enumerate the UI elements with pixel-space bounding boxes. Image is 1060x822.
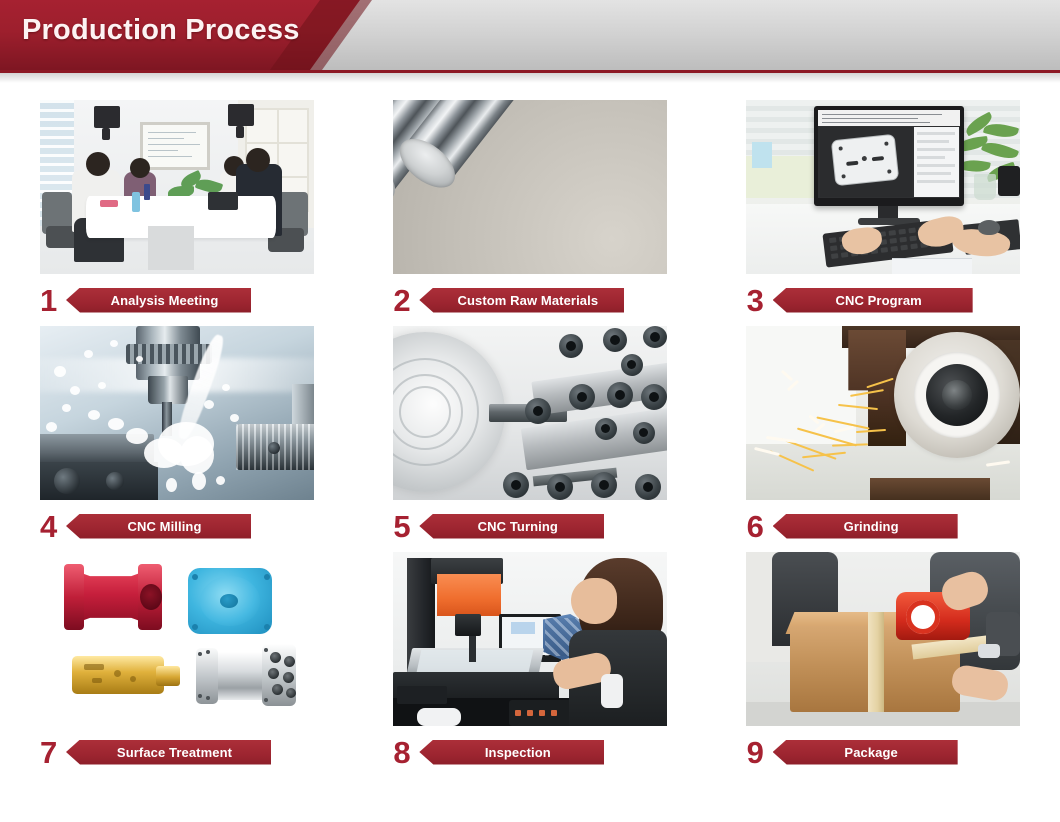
step-6-label-row: 6 Grinding <box>707 500 1060 552</box>
step-5-label[interactable]: CNC Turning <box>419 514 604 539</box>
process-step-3[interactable]: 3 CNC Program <box>707 100 1060 326</box>
step-9-number: 9 <box>747 737 773 768</box>
step-1-label-row: 1 Analysis Meeting <box>0 274 353 326</box>
process-row-3: 7 Surface Treatment <box>0 552 1060 778</box>
step-5-label-row: 5 CNC Turning <box>353 500 706 552</box>
step-3-label[interactable]: CNC Program <box>773 288 973 313</box>
page-title: Production Process <box>22 14 300 47</box>
page-header: Production Process <box>0 0 1060 83</box>
step-3-number: 3 <box>747 285 773 316</box>
step-8-label-row: 8 Inspection <box>353 726 706 778</box>
step-8-number: 8 <box>393 737 419 768</box>
step-8-label[interactable]: Inspection <box>419 740 604 765</box>
step-5-number: 5 <box>393 511 419 542</box>
process-step-7[interactable]: 7 Surface Treatment <box>0 552 353 778</box>
step-3-label-row: 3 CNC Program <box>707 274 1060 326</box>
step-2-label[interactable]: Custom Raw Materials <box>419 288 624 313</box>
step-6-number: 6 <box>747 511 773 542</box>
step-4-number: 4 <box>40 511 66 542</box>
step-4-label-row: 4 CNC Milling <box>0 500 353 552</box>
analysis-meeting-photo <box>40 100 314 274</box>
process-row-1: 1 Analysis Meeting 2 Custom Raw Mater <box>0 100 1060 326</box>
package-photo <box>746 552 1020 726</box>
step-9-label[interactable]: Package <box>773 740 958 765</box>
step-7-number: 7 <box>40 737 66 768</box>
step-1-number: 1 <box>40 285 66 316</box>
inspection-photo <box>393 552 667 726</box>
process-step-5[interactable]: 5 CNC Turning <box>353 326 706 552</box>
process-grid: 1 Analysis Meeting 2 Custom Raw Mater <box>0 83 1060 778</box>
process-step-8[interactable]: 8 Inspection <box>353 552 706 778</box>
surface-treatment-photo <box>40 552 314 726</box>
cnc-milling-photo <box>40 326 314 500</box>
process-step-9[interactable]: 9 Package <box>707 552 1060 778</box>
cnc-program-photo <box>746 100 1020 274</box>
step-7-label[interactable]: Surface Treatment <box>66 740 271 765</box>
process-row-2: 4 CNC Milling <box>0 326 1060 552</box>
step-7-label-row: 7 Surface Treatment <box>0 726 353 778</box>
step-9-label-row: 9 Package <box>707 726 1060 778</box>
step-2-label-row: 2 Custom Raw Materials <box>353 274 706 326</box>
cnc-turning-photo <box>393 326 667 500</box>
header-shadow-fade <box>0 73 1060 83</box>
step-6-label[interactable]: Grinding <box>773 514 958 539</box>
step-4-label[interactable]: CNC Milling <box>66 514 251 539</box>
step-1-label[interactable]: Analysis Meeting <box>66 288 251 313</box>
process-step-6[interactable]: 6 Grinding <box>707 326 1060 552</box>
process-step-2[interactable]: 2 Custom Raw Materials <box>353 100 706 326</box>
process-step-1[interactable]: 1 Analysis Meeting <box>0 100 353 326</box>
step-2-number: 2 <box>393 285 419 316</box>
custom-raw-materials-photo <box>393 100 667 274</box>
grinding-photo <box>746 326 1020 500</box>
process-step-4[interactable]: 4 CNC Milling <box>0 326 353 552</box>
